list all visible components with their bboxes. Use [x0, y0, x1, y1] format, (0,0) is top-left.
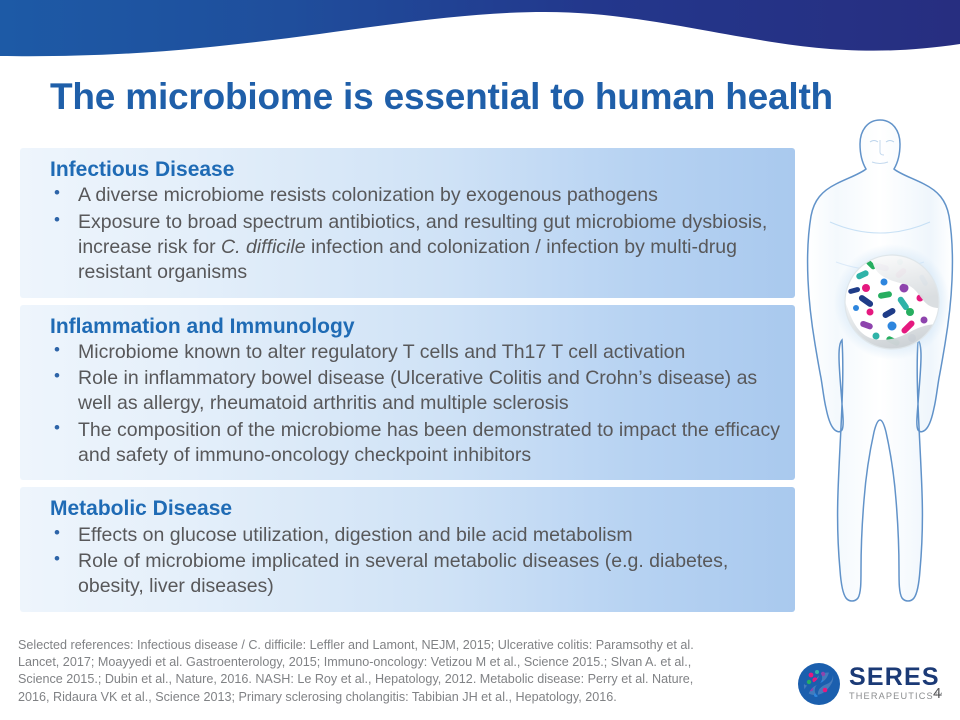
block-heading: Infectious Disease: [50, 157, 781, 182]
content-block-infectious-disease: Infectious Disease A diverse microbiome …: [20, 148, 795, 298]
list-item: Role of microbiome implicated in several…: [50, 549, 781, 600]
references-footnote: Selected references: Infectious disease …: [18, 637, 793, 706]
list-item: Microbiome known to alter regulatory T c…: [50, 340, 781, 365]
bullet-text: A diverse microbiome resists colonizatio…: [78, 184, 658, 206]
body-outline: [808, 120, 953, 601]
bullet-text: Effects on glucose utilization, digestio…: [78, 524, 633, 546]
bullet-text: The composition of the microbiome has be…: [78, 419, 780, 466]
block-heading: Metabolic Disease: [50, 496, 781, 521]
bullet-text: Role in inflammatory bowel disease (Ulce…: [78, 367, 757, 414]
microbiome-petri-dish: [845, 255, 939, 349]
list-item: Role in inflammatory bowel disease (Ulce…: [50, 366, 781, 417]
logo-brand-name: SERES: [849, 665, 944, 690]
footnote-line: 2016, Ridaura VK et al., Science 2013; P…: [18, 689, 793, 706]
content-blocks: Infectious Disease A diverse microbiome …: [20, 148, 795, 619]
bullet-text: Exposure to broad spectrum antibiotics, …: [78, 211, 767, 284]
bullet-list: Microbiome known to alter regulatory T c…: [50, 340, 781, 469]
human-body-microbiome-figure: [800, 112, 960, 642]
page-title: The microbiome is essential to human hea…: [50, 76, 880, 118]
seres-logo-icon: [797, 662, 841, 706]
content-block-metabolic-disease: Metabolic Disease Effects on glucose uti…: [20, 487, 795, 611]
logo-tagline: THERAPEUTICS™: [849, 691, 944, 702]
footer-logo-area: SERES THERAPEUTICS™ 4: [797, 660, 960, 712]
footnote-line: Lancet, 2017; Moayyedi et al. Gastroente…: [18, 654, 793, 671]
bullet-text: Role of microbiome implicated in several…: [78, 550, 728, 597]
block-heading: Inflammation and Immunology: [50, 314, 781, 339]
seres-logo-text: SERES THERAPEUTICS™: [849, 665, 944, 702]
bullet-text: Microbiome known to alter regulatory T c…: [78, 341, 685, 363]
footnote-line: Science 2015.; Dubin et al., Nature, 201…: [18, 671, 793, 688]
bullet-list: Effects on glucose utilization, digestio…: [50, 523, 781, 600]
header-wave-banner: [0, 0, 960, 72]
bullet-list: A diverse microbiome resists colonizatio…: [50, 183, 781, 285]
content-block-inflammation-and-immunology: Inflammation and Immunology Microbiome k…: [20, 305, 795, 481]
page-number: 4: [933, 685, 941, 702]
list-item: A diverse microbiome resists colonizatio…: [50, 183, 781, 208]
footnote-line: Selected references: Infectious disease …: [18, 637, 793, 654]
list-item: Effects on glucose utilization, digestio…: [50, 523, 781, 548]
list-item: Exposure to broad spectrum antibiotics, …: [50, 210, 781, 286]
list-item: The composition of the microbiome has be…: [50, 418, 781, 469]
